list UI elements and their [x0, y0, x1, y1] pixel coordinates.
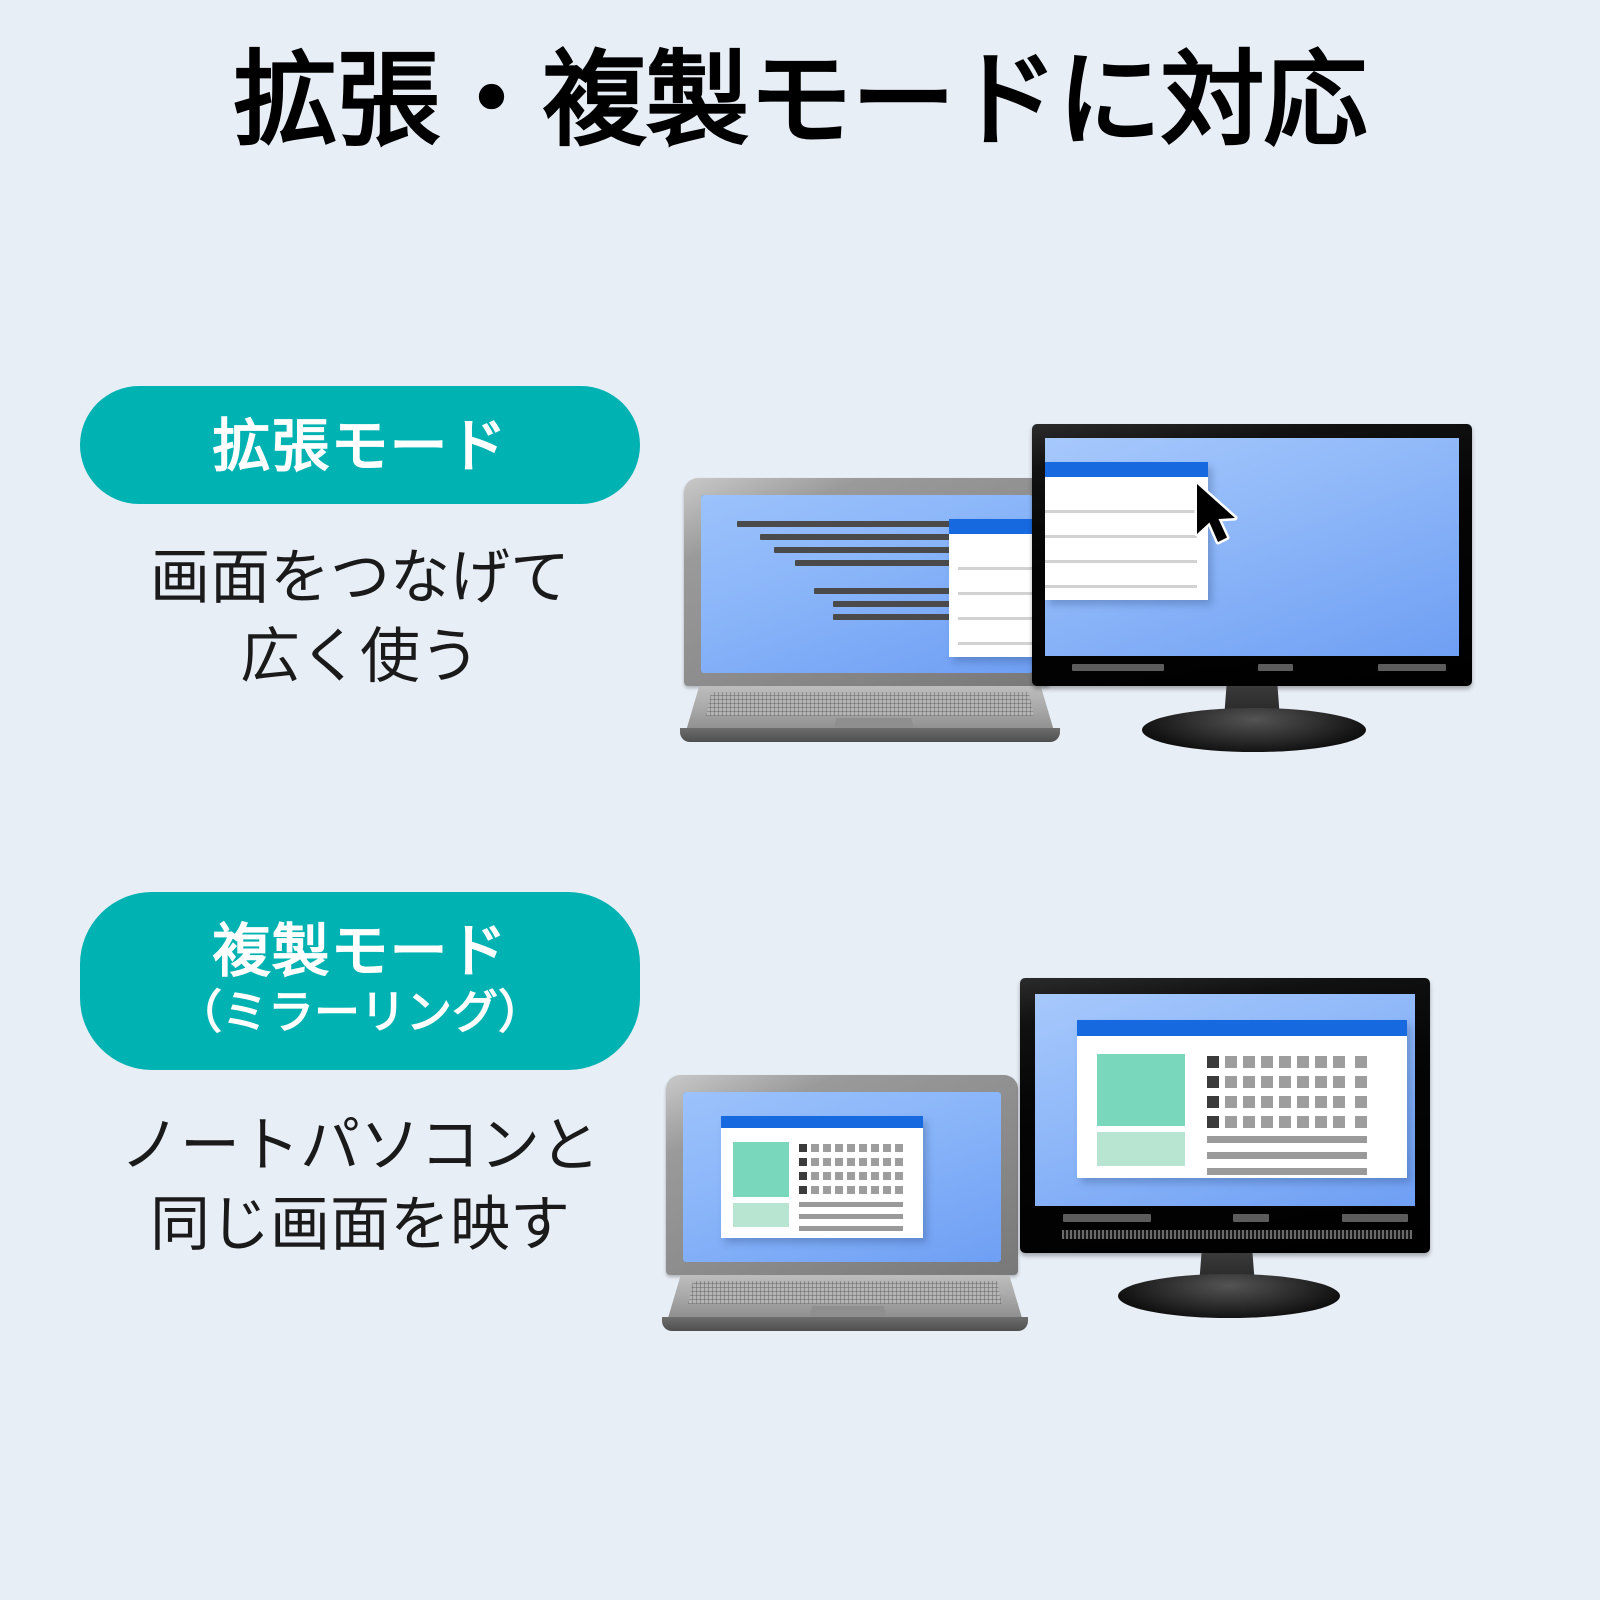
grid-cell: [1297, 1096, 1309, 1108]
grid-cell: [859, 1158, 867, 1166]
laptop-trackpad: [810, 1306, 886, 1317]
grid-cell: [835, 1186, 843, 1194]
promo-page: 拡張・複製モードに対応 拡張モード 画面をつなげて 広く使う: [0, 0, 1600, 1600]
media-thumbnail-small: [733, 1203, 789, 1227]
grid-cell: [859, 1186, 867, 1194]
feature-mirror-mode: 複製モード （ミラーリング） ノートパソコンと 同じ画面を映す: [0, 0, 1600, 1600]
media-thumbnail-small: [1097, 1132, 1185, 1166]
grid-cell: [1225, 1116, 1237, 1128]
content-text-bar: [1207, 1136, 1367, 1143]
window-titlebar: [1077, 1020, 1407, 1036]
grid-cell: [823, 1158, 831, 1166]
mirror-mode-laptop: [662, 1075, 1028, 1335]
grid-cell: [1315, 1056, 1327, 1068]
grid-cell: [823, 1172, 831, 1180]
grid-cell: [871, 1186, 879, 1194]
grid-cell: [1279, 1116, 1291, 1128]
grid-cell: [1225, 1076, 1237, 1088]
grid-cell: [1261, 1076, 1273, 1088]
grid-cell: [811, 1186, 819, 1194]
grid-cell: [895, 1158, 903, 1166]
grid-cell: [859, 1144, 867, 1152]
grid-cell: [871, 1172, 879, 1180]
grid-cell: [1261, 1096, 1273, 1108]
grid-cell: [895, 1172, 903, 1180]
laptop-screen-frame: [683, 1092, 1001, 1262]
monitor-stand-base: [1118, 1274, 1340, 1318]
mirror-mode-caption-line-2: 同じ画面を映す: [80, 1185, 640, 1264]
content-text-bar: [1207, 1152, 1367, 1159]
content-text-bar: [799, 1214, 903, 1219]
grid-cell: [1207, 1096, 1219, 1108]
grid-cell: [847, 1144, 855, 1152]
mirror-mode-caption-line-1: ノートパソコンと: [80, 1106, 640, 1185]
grid-cell: [883, 1172, 891, 1180]
grid-cell: [1279, 1056, 1291, 1068]
grid-cell: [1333, 1056, 1345, 1068]
grid-cell: [1207, 1076, 1219, 1088]
grid-cell: [1297, 1116, 1309, 1128]
grid-cell: [799, 1144, 807, 1152]
grid-cell: [859, 1172, 867, 1180]
grid-cell: [1261, 1056, 1273, 1068]
grid-cell: [895, 1144, 903, 1152]
mirror-mode-monitor: [1020, 978, 1430, 1318]
grid-cell: [811, 1172, 819, 1180]
grid-cell: [1315, 1116, 1327, 1128]
monitor-button[interactable]: [1342, 1214, 1408, 1222]
grid-cell: [1333, 1096, 1345, 1108]
mirror-mode-caption: ノートパソコンと 同じ画面を映す: [80, 1106, 640, 1264]
grid-cell: [871, 1144, 879, 1152]
grid-cell: [1225, 1056, 1237, 1068]
grid-cell: [895, 1186, 903, 1194]
laptop-base-front-edge: [662, 1317, 1028, 1331]
laptop-keyboard: [688, 1281, 1002, 1304]
grid-cell: [871, 1158, 879, 1166]
grid-cell: [1355, 1056, 1367, 1068]
grid-cell: [1279, 1076, 1291, 1088]
grid-cell: [799, 1158, 807, 1166]
badge-mirror-mode-label: 複製モード: [80, 918, 640, 986]
grid-cell: [1243, 1076, 1255, 1088]
grid-cell: [1355, 1076, 1367, 1088]
window-titlebar: [721, 1116, 923, 1128]
monitor-speaker-grille: [1062, 1230, 1412, 1239]
badge-mirror-mode: 複製モード （ミラーリング）: [80, 892, 640, 1070]
grid-cell: [823, 1144, 831, 1152]
content-text-bar: [799, 1226, 903, 1231]
grid-cell: [835, 1158, 843, 1166]
grid-cell: [1297, 1056, 1309, 1068]
mirror-mode-text-block: 複製モード （ミラーリング） ノートパソコンと 同じ画面を映す: [80, 892, 640, 1292]
grid-cell: [883, 1186, 891, 1194]
grid-cell: [847, 1172, 855, 1180]
grid-cell: [1261, 1116, 1273, 1128]
grid-cell: [799, 1172, 807, 1180]
grid-cell: [1315, 1076, 1327, 1088]
media-thumbnail-large: [733, 1142, 789, 1197]
grid-cell: [1333, 1116, 1345, 1128]
grid-cell: [811, 1158, 819, 1166]
content-text-bar: [1207, 1168, 1367, 1175]
grid-cell: [1207, 1116, 1219, 1128]
media-thumbnail-large: [1097, 1054, 1185, 1126]
grid-cell: [835, 1144, 843, 1152]
grid-cell: [1355, 1116, 1367, 1128]
laptop-screen: [683, 1092, 1001, 1262]
grid-cell: [1355, 1096, 1367, 1108]
grid-cell: [847, 1158, 855, 1166]
mirrored-document-window: [721, 1116, 923, 1238]
grid-cell: [1243, 1096, 1255, 1108]
grid-cell: [823, 1186, 831, 1194]
badge-mirror-mode-sublabel: （ミラーリング）: [80, 986, 640, 1039]
mirrored-document-window: [1077, 1020, 1407, 1178]
grid-cell: [1243, 1116, 1255, 1128]
grid-cell: [1225, 1096, 1237, 1108]
grid-cell: [799, 1186, 807, 1194]
grid-cell: [835, 1172, 843, 1180]
grid-cell: [883, 1158, 891, 1166]
grid-cell: [1243, 1056, 1255, 1068]
monitor-button[interactable]: [1063, 1214, 1151, 1222]
monitor-power-button[interactable]: [1233, 1214, 1269, 1222]
grid-cell: [847, 1186, 855, 1194]
grid-cell: [883, 1144, 891, 1152]
grid-cell: [1333, 1076, 1345, 1088]
grid-cell: [1207, 1056, 1219, 1068]
grid-cell: [811, 1144, 819, 1152]
grid-cell: [1297, 1076, 1309, 1088]
content-text-bar: [799, 1202, 903, 1207]
grid-cell: [1279, 1096, 1291, 1108]
monitor-screen: [1035, 994, 1415, 1206]
grid-cell: [1315, 1096, 1327, 1108]
